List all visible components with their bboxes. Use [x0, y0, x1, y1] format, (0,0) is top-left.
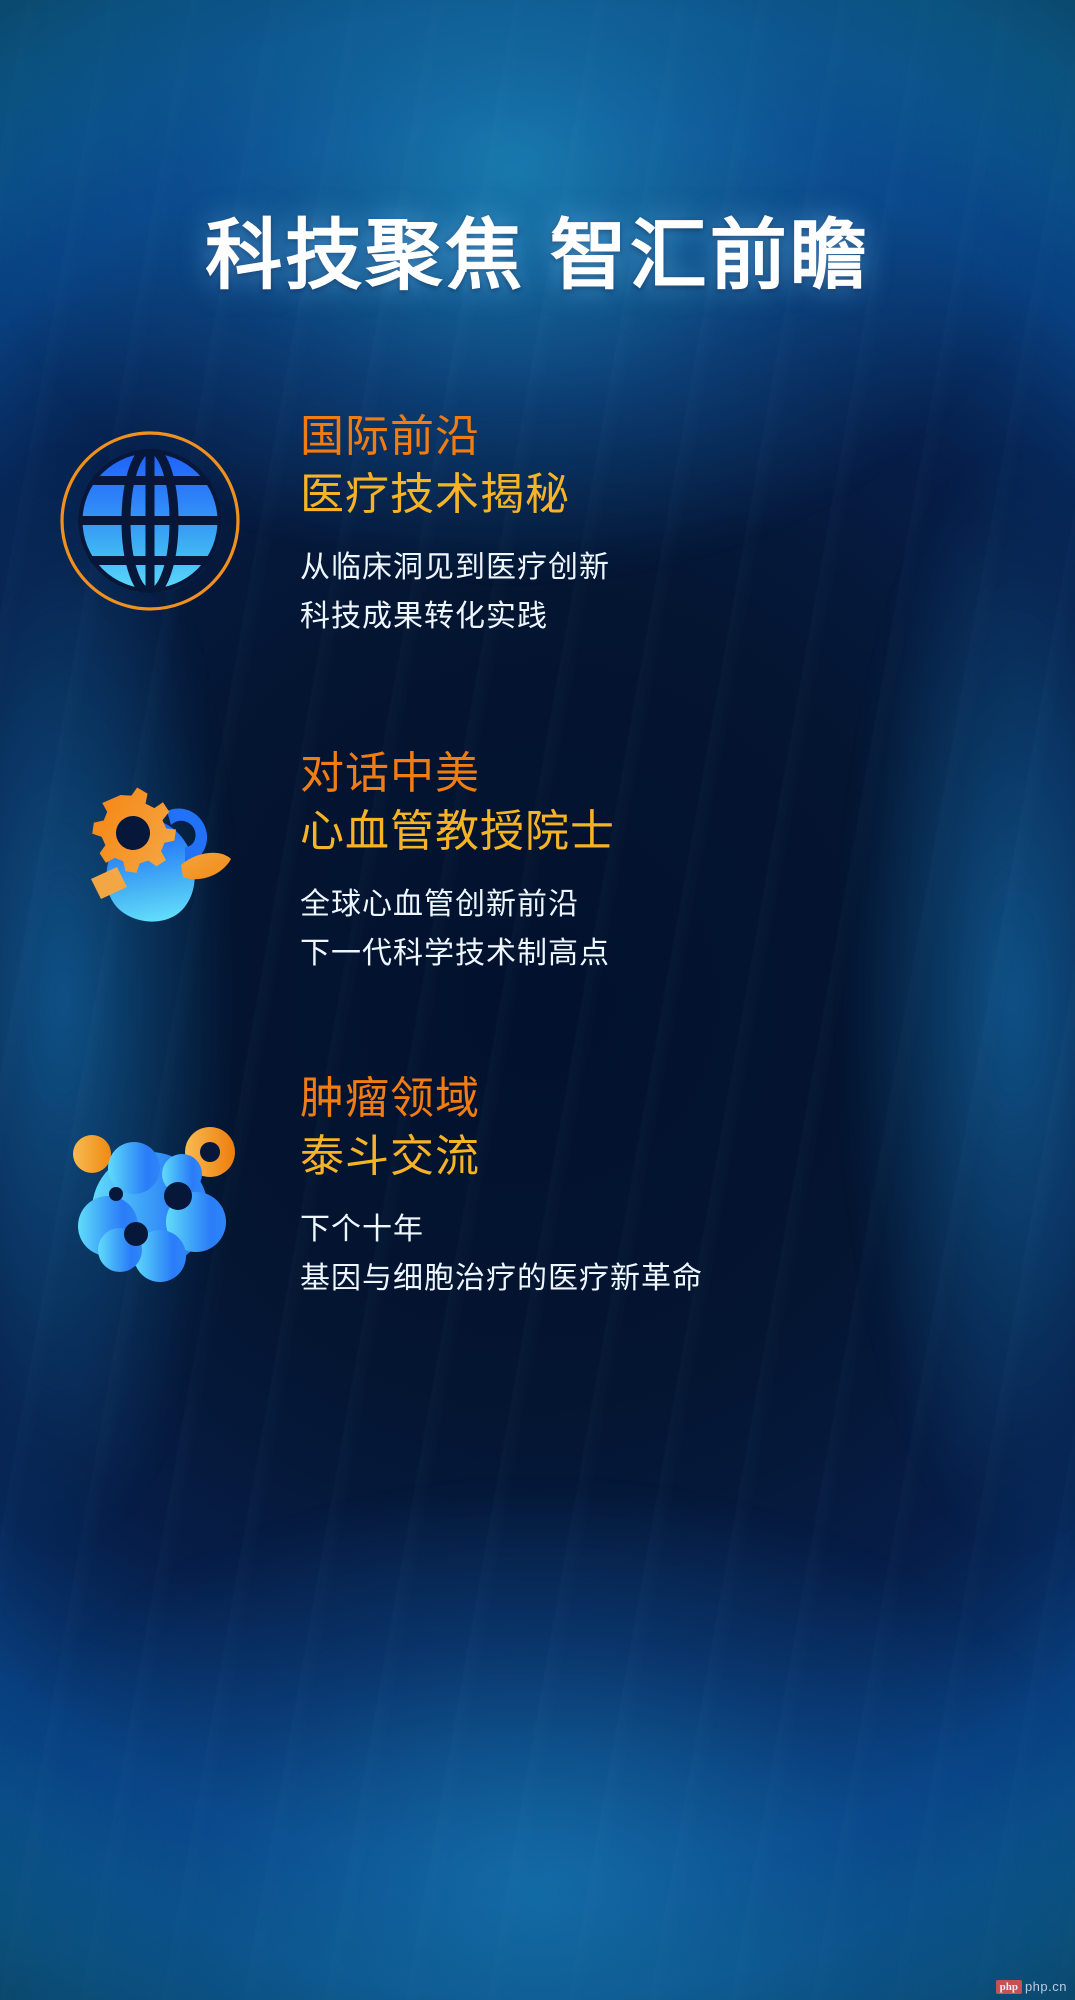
section-3-body-line2: 基因与细胞治疗的医疗新革命	[300, 1255, 703, 1304]
satellite-dot-left	[73, 1135, 111, 1173]
section-2-body: 全球心血管创新前沿 下一代科学技术制高点	[300, 881, 615, 978]
cell-icon	[50, 1098, 250, 1288]
section-2-body-line1: 全球心血管创新前沿	[300, 881, 615, 930]
watermark-badge: php	[996, 1980, 1022, 1994]
section-2-body-line2: 下一代科学技术制高点	[300, 930, 615, 979]
section-1-text: 国际前沿 医疗技术揭秘 从临床洞见到医疗创新 科技成果转化实践	[300, 408, 610, 641]
section-3-heading: 肿瘤领域 泰斗交流	[300, 1070, 703, 1186]
poster-content: 科技聚焦 智汇前瞻	[0, 0, 1075, 2000]
section-cardiovascular-dialogue: 对话中美 心血管教授院士 全球心血管创新前沿 下一代科学技术制高点	[0, 745, 1075, 978]
section-2-text: 对话中美 心血管教授院士 全球心血管创新前沿 下一代科学技术制高点	[300, 745, 615, 978]
section-1-body-line1: 从临床洞见到医疗创新	[300, 544, 610, 593]
section-2-icon-wrap	[0, 745, 300, 949]
watermark: php php.cn	[996, 1979, 1067, 1994]
heart-icon	[55, 759, 245, 949]
section-2-heading-line2: 心血管教授院士	[300, 803, 615, 861]
section-3-heading-line1: 肿瘤领域	[300, 1070, 703, 1128]
section-3-body-line1: 下个十年	[300, 1206, 703, 1255]
section-1-heading-line1: 国际前沿	[300, 408, 610, 466]
section-3-icon-wrap	[0, 1070, 300, 1288]
section-1-heading-line2: 医疗技术揭秘	[300, 466, 610, 524]
section-international-frontier: 国际前沿 医疗技术揭秘 从临床洞见到医疗创新 科技成果转化实践	[0, 408, 1075, 641]
page-title: 科技聚焦 智汇前瞻	[0, 218, 1075, 295]
section-oncology-exchange: 肿瘤领域 泰斗交流 下个十年 基因与细胞治疗的医疗新革命	[0, 1070, 1075, 1303]
section-1-heading: 国际前沿 医疗技术揭秘	[300, 408, 610, 524]
section-2-heading: 对话中美 心血管教授院士	[300, 745, 615, 861]
section-1-body-line2: 科技成果转化实践	[300, 593, 610, 642]
section-3-body: 下个十年 基因与细胞治疗的医疗新革命	[300, 1206, 703, 1303]
globe-icon	[55, 426, 245, 616]
poster-root: 科技聚焦 智汇前瞻	[0, 0, 1075, 2000]
watermark-text: php.cn	[1025, 1979, 1067, 1994]
section-1-body: 从临床洞见到医疗创新 科技成果转化实践	[300, 544, 610, 641]
section-3-heading-line2: 泰斗交流	[300, 1128, 703, 1186]
section-2-heading-line1: 对话中美	[300, 745, 615, 803]
section-3-text: 肿瘤领域 泰斗交流 下个十年 基因与细胞治疗的医疗新革命	[300, 1070, 703, 1303]
section-1-icon-wrap	[0, 408, 300, 616]
